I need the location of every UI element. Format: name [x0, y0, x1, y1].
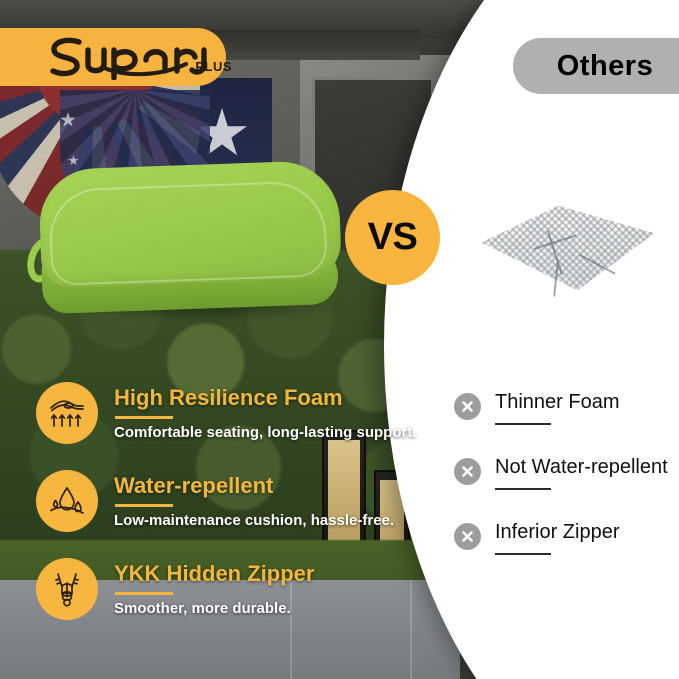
vs-badge-label: VS — [368, 216, 418, 259]
feature-item-water-repellent: Water-repellent Low-maintenance cushion,… — [36, 470, 394, 532]
water-droplet-icon — [36, 470, 98, 532]
hand-press-foam-icon — [36, 382, 98, 444]
competitor-product-image — [462, 196, 670, 314]
feature-title: Water-repellent — [114, 474, 394, 498]
feature-subtitle: Low-maintenance cushion, hassle-free. — [114, 512, 394, 530]
cushion-seam-line — [48, 180, 327, 286]
feature-divider — [115, 504, 173, 507]
zipper-icon — [36, 558, 98, 620]
feature-subtitle: Comfortable seating, long-lasting suppor… — [114, 424, 417, 442]
brand-logo-suffix: PLUS — [195, 59, 232, 74]
feature-divider — [115, 592, 173, 595]
x-circle-icon — [454, 393, 481, 420]
drawback-divider — [495, 423, 551, 425]
competitor-header-pill: Others — [513, 38, 679, 94]
feature-divider — [115, 416, 173, 419]
drawback-title: Not Water-repellent — [495, 456, 668, 479]
drawback-item-not-water-repellent: Not Water-repellent — [454, 456, 668, 490]
competitor-header-label: Others — [557, 50, 679, 83]
brand-logo: PLUS Supdur — [46, 34, 236, 80]
tufted-cushion-body — [470, 202, 662, 294]
feature-title: High Resilience Foam — [114, 386, 417, 410]
feature-item-foam: High Resilience Foam Comfortable seating… — [36, 382, 417, 444]
brand-product-image — [28, 165, 348, 330]
vs-badge: VS — [345, 190, 440, 285]
drawback-title: Thinner Foam — [495, 391, 620, 414]
competitor-panel — [384, 0, 679, 679]
drawback-divider — [495, 488, 551, 490]
feature-title: YKK Hidden Zipper — [114, 562, 314, 586]
x-circle-icon — [454, 523, 481, 550]
drawback-divider — [495, 553, 551, 555]
feature-subtitle: Smoother, more durable. — [114, 600, 314, 618]
x-circle-icon — [454, 458, 481, 485]
drawback-item-inferior-zipper: Inferior Zipper — [454, 521, 620, 555]
drawback-item-thinner-foam: Thinner Foam — [454, 391, 620, 425]
drawback-title: Inferior Zipper — [495, 521, 620, 544]
comparison-infographic: PLUS Supdur Others VS High R — [0, 0, 679, 679]
feature-item-zipper: YKK Hidden Zipper Smoother, more durable… — [36, 558, 314, 620]
